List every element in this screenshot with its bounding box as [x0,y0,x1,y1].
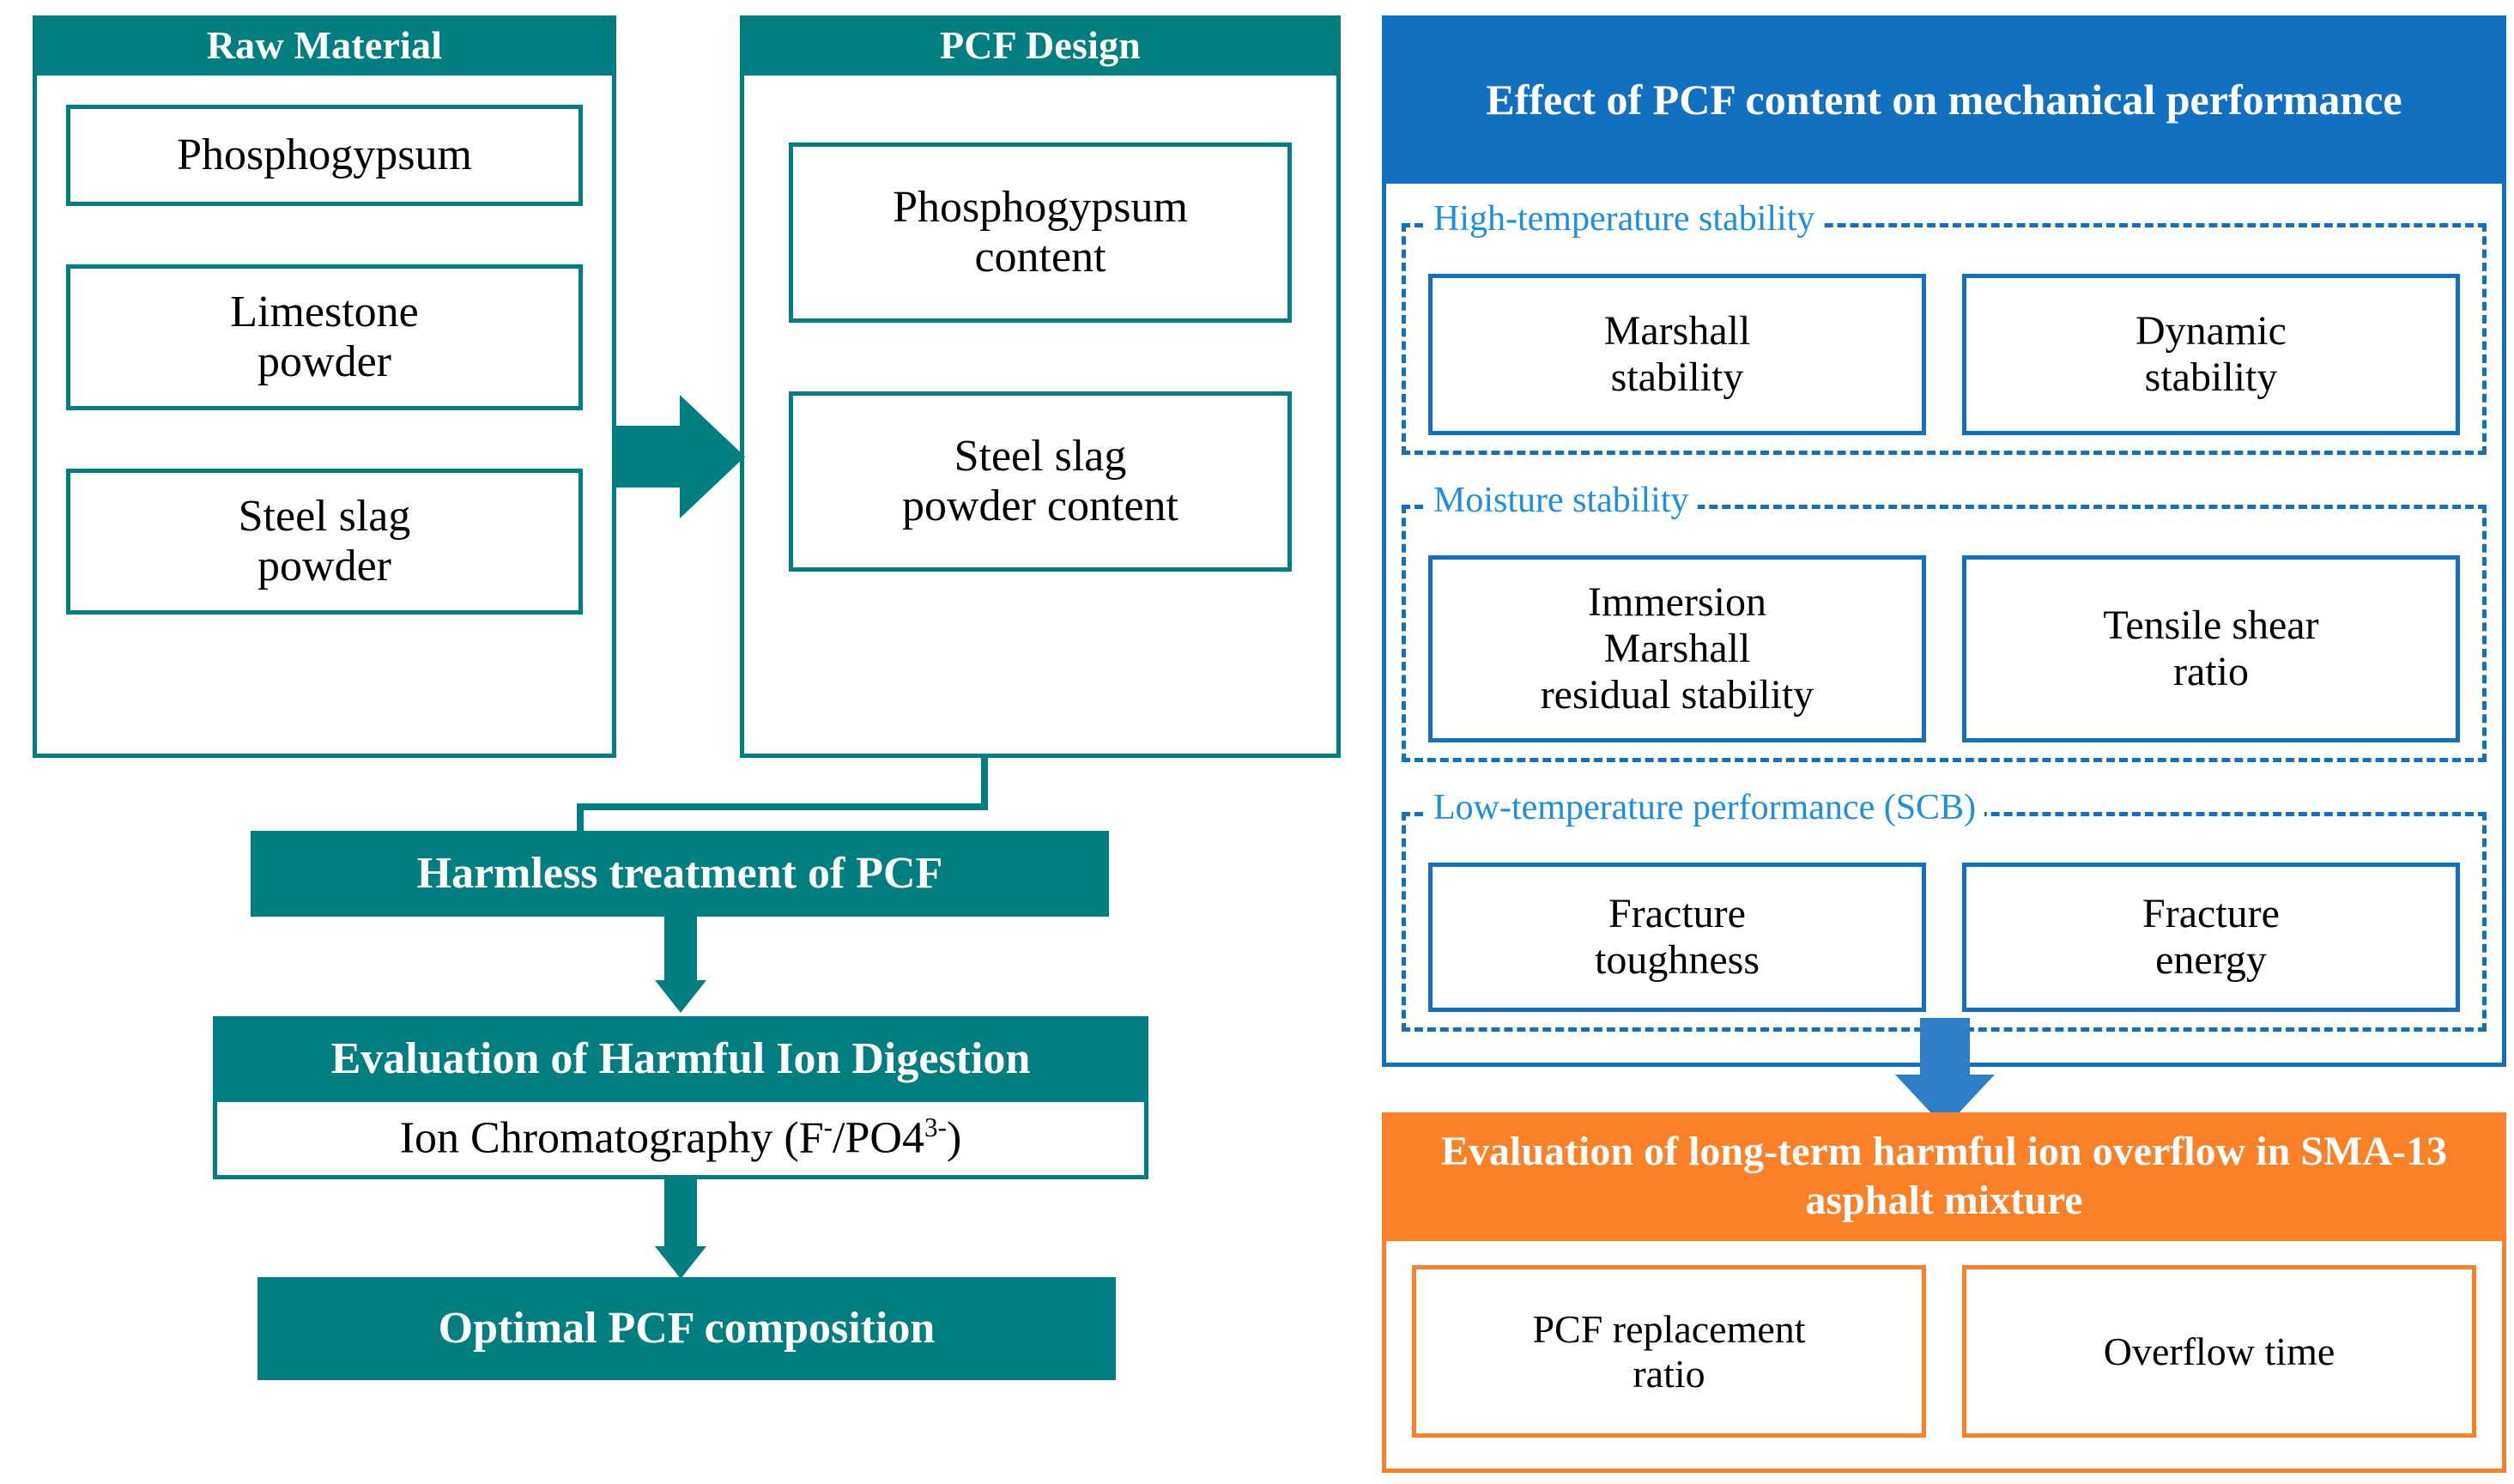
harmful-ion-digestion-block: Evaluation of Harmful Ion Digestion Ion … [213,1016,1148,1179]
mechanical-performance-body: High-temperature stability Marshall stab… [1382,184,2506,1067]
ion-chromatography-label: Ion Chromatography (F-/PO43-) [400,1113,962,1164]
metric-dynamic-stability[interactable]: Dynamic stability [1962,274,2460,435]
group-legend-moisture-stability: Moisture stability [1425,480,1698,521]
mechanical-performance-header: Effect of PCF content on mechanical perf… [1382,15,2506,184]
metric-fracture-energy[interactable]: Fracture energy [1962,863,2460,1012]
metric-marshall-stability[interactable]: Marshall stability [1428,274,1926,435]
pcf-design-header: PCF Design [740,15,1341,76]
metric-overflow-time[interactable]: Overflow time [1962,1265,2476,1438]
optimal-pcf-composition-band[interactable]: Optimal PCF composition [257,1277,1116,1380]
group-moisture-stability: Moisture stability Immersion Marshall re… [1402,505,2487,762]
long-term-overflow-body: PCF replacement ratio Overflow time [1382,1241,2506,1473]
superscript-3-minus: 3- [924,1112,947,1142]
arrow-right-icon [616,388,745,525]
metric-pcf-replacement-ratio[interactable]: PCF replacement ratio [1412,1265,1926,1438]
ion-chromatography-box[interactable]: Ion Chromatography (F-/PO43-) [213,1102,1148,1179]
raw-material-item-limestone-powder[interactable]: Limestone powder [66,264,583,410]
group-high-temperature-stability: High-temperature stability Marshall stab… [1402,223,2487,455]
raw-material-item-phosphogypsum[interactable]: Phosphogypsum [66,105,583,206]
long-term-overflow-panel: Evaluation of long-term harmful ion over… [1382,1112,2506,1473]
arrow-down-icon-2 [645,1179,716,1282]
pcf-design-column: PCF Design Phosphogypsum content Steel s… [740,15,1341,758]
group-legend-low-temperature-performance: Low-temperature performance (SCB) [1425,787,1984,828]
arrow-down-icon-1 [645,917,716,1016]
raw-material-column: Raw Material Phosphogypsum Limestone pow… [33,15,616,758]
metric-immersion-marshall-residual-stability[interactable]: Immersion Marshall residual stability [1428,555,1926,742]
long-term-overflow-header: Evaluation of long-term harmful ion over… [1382,1112,2506,1241]
group-low-temperature-performance: Low-temperature performance (SCB) Fractu… [1402,812,2487,1032]
raw-material-body: Phosphogypsum Limestone powder Steel sla… [33,76,616,758]
raw-material-header: Raw Material [33,15,616,76]
pcf-design-item-phosphogypsum-content[interactable]: Phosphogypsum content [789,142,1292,323]
mechanical-performance-panel: Effect of PCF content on mechanical perf… [1382,15,2506,1067]
harmful-ion-digestion-band[interactable]: Evaluation of Harmful Ion Digestion [213,1016,1148,1102]
pcf-design-item-steel-slag-powder-content[interactable]: Steel slag powder content [789,391,1292,572]
pcf-design-body: Phosphogypsum content Steel slag powder … [740,76,1341,758]
superscript-minus: - [824,1112,833,1142]
raw-material-item-steel-slag-powder[interactable]: Steel slag powder [66,469,583,615]
metric-fracture-toughness[interactable]: Fracture toughness [1428,863,1926,1012]
group-legend-high-temperature-stability: High-temperature stability [1425,198,1823,239]
harmless-treatment-band[interactable]: Harmless treatment of PCF [251,831,1109,917]
metric-tensile-shear-ratio[interactable]: Tensile shear ratio [1962,555,2460,742]
